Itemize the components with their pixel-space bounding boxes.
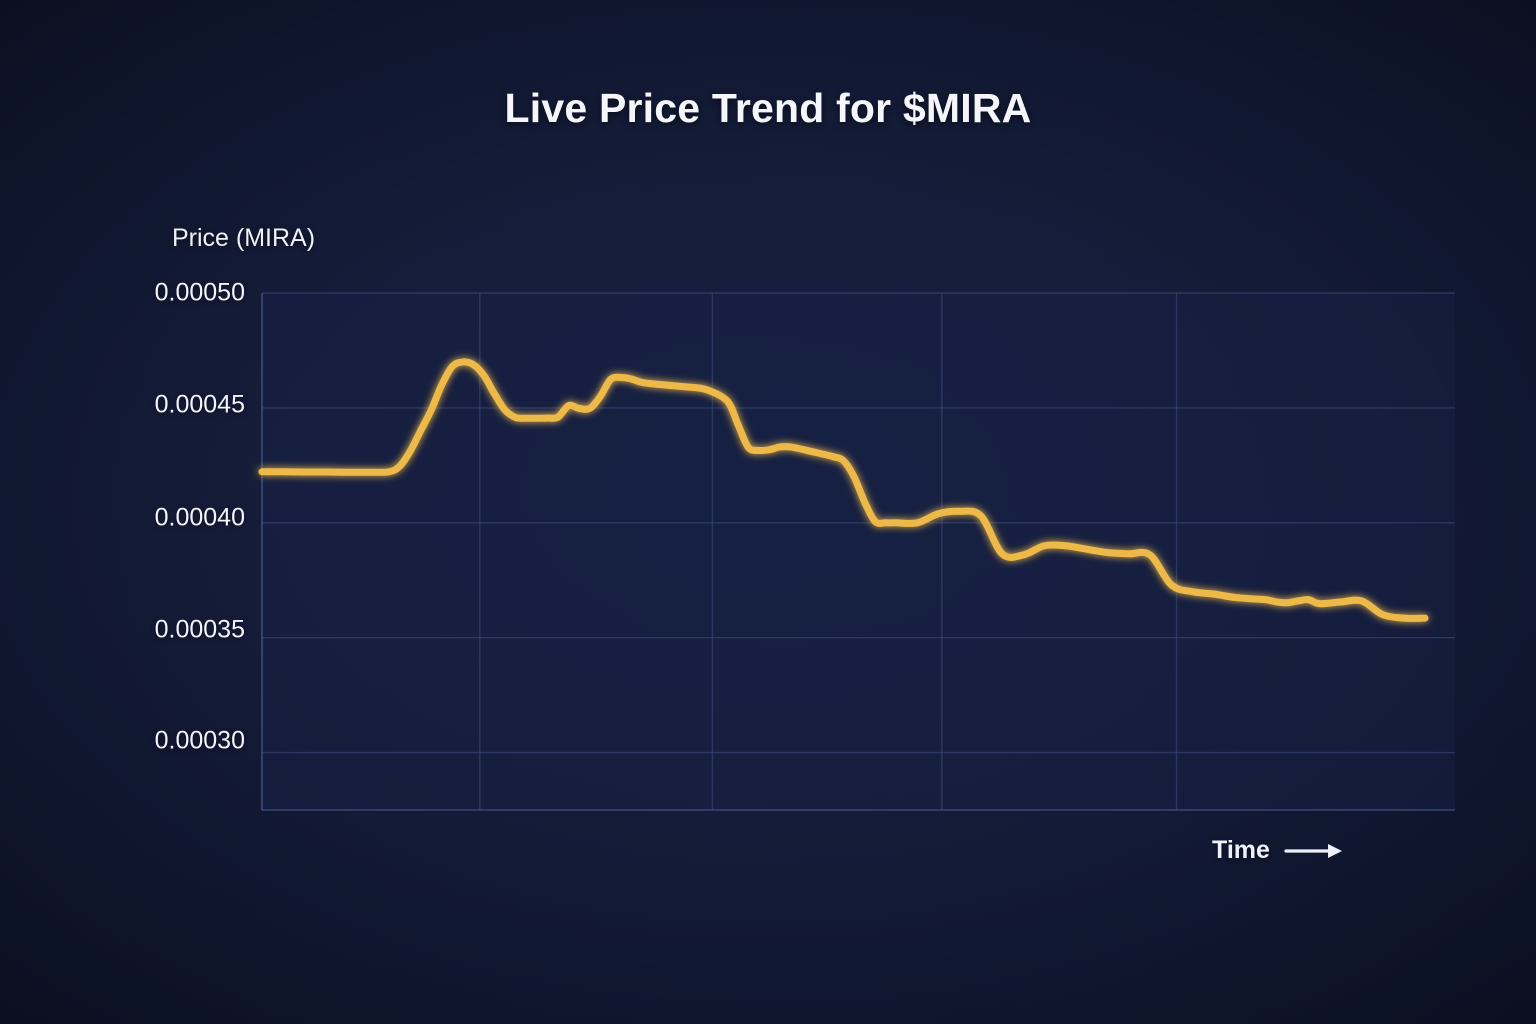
x-axis-label: Time [1212,836,1270,865]
plot-area [0,0,1536,1024]
arrow-right-icon [1284,841,1346,861]
x-axis-label-group: Time [1212,836,1346,865]
chart-canvas: Live Price Trend for $MIRA Price (MIRA) … [0,0,1536,1024]
plot-background [262,293,1455,810]
